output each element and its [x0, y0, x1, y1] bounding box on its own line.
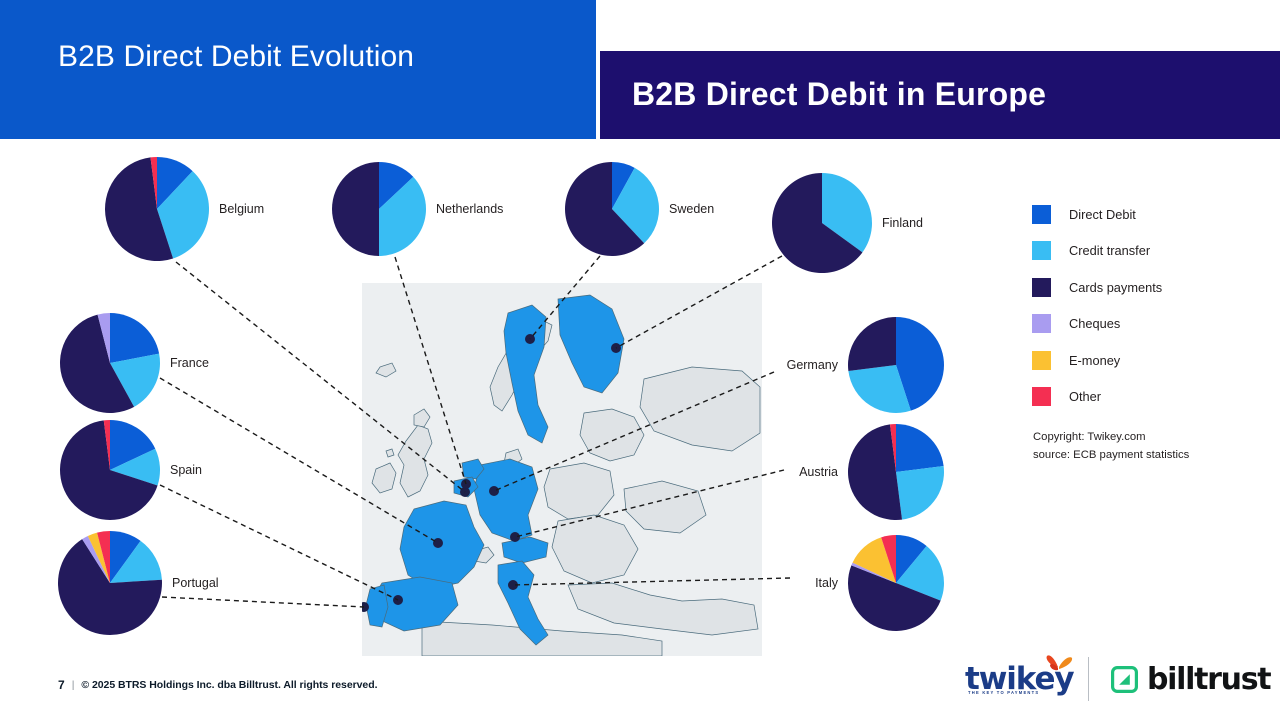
pie-svg	[58, 311, 162, 415]
map-marker-italy[interactable]	[508, 580, 518, 590]
legend-swatch-icon	[1032, 278, 1051, 297]
pie-svg	[330, 160, 428, 258]
twikey-logo: twikey THE KEY TO PAYMENTS	[965, 657, 1070, 701]
legend-item-label: Cards payments	[1069, 280, 1162, 295]
map-marker-france[interactable]	[433, 538, 443, 548]
map-marker-sweden[interactable]	[525, 334, 535, 344]
page-title: B2B Direct Debit Evolution	[58, 40, 414, 74]
pie-label-finland: Finland	[882, 216, 923, 230]
billtrust-wordmark: billtrust	[1147, 662, 1270, 697]
pie-label-sweden: Sweden	[669, 202, 714, 216]
pie-svg	[770, 171, 874, 275]
legend-swatch-icon	[1032, 314, 1051, 333]
pie-chart-france: France	[58, 311, 162, 415]
pie-svg	[58, 418, 162, 522]
pie-svg	[563, 160, 661, 258]
legend-item-label: Direct Debit	[1069, 207, 1136, 222]
legend-item-label: Other	[1069, 389, 1101, 404]
page-number: 7	[58, 678, 65, 692]
legend-item-label: Credit transfer	[1069, 243, 1150, 258]
footer-separator: |	[72, 679, 75, 691]
legend-item-other[interactable]: Other	[1032, 379, 1262, 416]
pie-chart-portugal: Portugal	[56, 529, 164, 637]
pie-chart-sweden: Sweden	[563, 160, 661, 258]
legend-item-label: Cheques	[1069, 316, 1120, 331]
pie-chart-germany: Germany	[846, 315, 946, 415]
pie-label-germany: Germany	[787, 358, 838, 372]
map-marker-germany[interactable]	[489, 486, 499, 496]
pie-svg	[56, 529, 164, 637]
map-marker-finland[interactable]	[611, 343, 621, 353]
pie-chart-italy: Italy	[846, 533, 946, 633]
footer: 7 | © 2025 BTRS Holdings Inc. dba Billtr…	[58, 678, 377, 692]
pie-svg	[846, 422, 946, 522]
pie-svg	[846, 315, 946, 415]
map-marker-austria[interactable]	[510, 532, 520, 542]
legend-item-credit-transfer[interactable]: Credit transfer	[1032, 233, 1262, 270]
map-marker-netherlands[interactable]	[461, 479, 471, 489]
panel-title: B2B Direct Debit in Europe	[632, 76, 1046, 113]
pie-chart-belgium: Belgium	[103, 155, 211, 263]
copyright-line: Copyright: Twikey.com	[1033, 428, 1189, 446]
chart-legend: Direct DebitCredit transferCards payment…	[1032, 196, 1262, 415]
pie-chart-austria: Austria	[846, 422, 946, 522]
map-marker-spain[interactable]	[393, 595, 403, 605]
source-note: Copyright: Twikey.com source: ECB paymen…	[1033, 428, 1189, 465]
legend-item-direct-debit[interactable]: Direct Debit	[1032, 196, 1262, 233]
legend-item-label: E-money	[1069, 353, 1120, 368]
billtrust-mark-icon	[1111, 666, 1138, 693]
pie-svg	[103, 155, 211, 263]
legend-swatch-icon	[1032, 241, 1051, 260]
pie-svg	[846, 533, 946, 633]
pie-label-spain: Spain	[170, 463, 202, 477]
legend-swatch-icon	[1032, 387, 1051, 406]
pie-label-france: France	[170, 356, 209, 370]
source-line: source: ECB payment statistics	[1033, 446, 1189, 464]
pie-label-netherlands: Netherlands	[436, 202, 503, 216]
pie-label-portugal: Portugal	[172, 576, 219, 590]
legend-swatch-icon	[1032, 205, 1051, 224]
pie-chart-spain: Spain	[58, 418, 162, 522]
legend-item-cheques[interactable]: Cheques	[1032, 306, 1262, 343]
europe-map	[362, 283, 762, 656]
connector-portugal	[162, 597, 364, 607]
pie-chart-finland: Finland	[770, 171, 874, 275]
logo-divider	[1088, 657, 1089, 701]
pie-slice-cards-payments	[848, 317, 896, 371]
pie-label-belgium: Belgium	[219, 202, 264, 216]
pie-label-italy: Italy	[815, 576, 838, 590]
pie-slice-credit-transfer	[896, 466, 944, 520]
twikey-tagline: THE KEY TO PAYMENTS	[968, 690, 1039, 695]
legend-item-e-money[interactable]: E-money	[1032, 342, 1262, 379]
legend-swatch-icon	[1032, 351, 1051, 370]
footer-copyright: © 2025 BTRS Holdings Inc. dba Billtrust.…	[81, 679, 377, 691]
butterfly-icon	[1045, 654, 1073, 676]
pie-slice-direct-debit	[896, 424, 944, 472]
billtrust-logo: billtrust	[1111, 662, 1270, 697]
pie-chart-netherlands: Netherlands	[330, 160, 428, 258]
legend-item-cards-payments[interactable]: Cards payments	[1032, 269, 1262, 306]
pie-slice-cards-payments	[332, 162, 379, 256]
pie-label-austria: Austria	[799, 465, 838, 479]
logo-row: twikey THE KEY TO PAYMENTS billtrust	[965, 655, 1270, 703]
